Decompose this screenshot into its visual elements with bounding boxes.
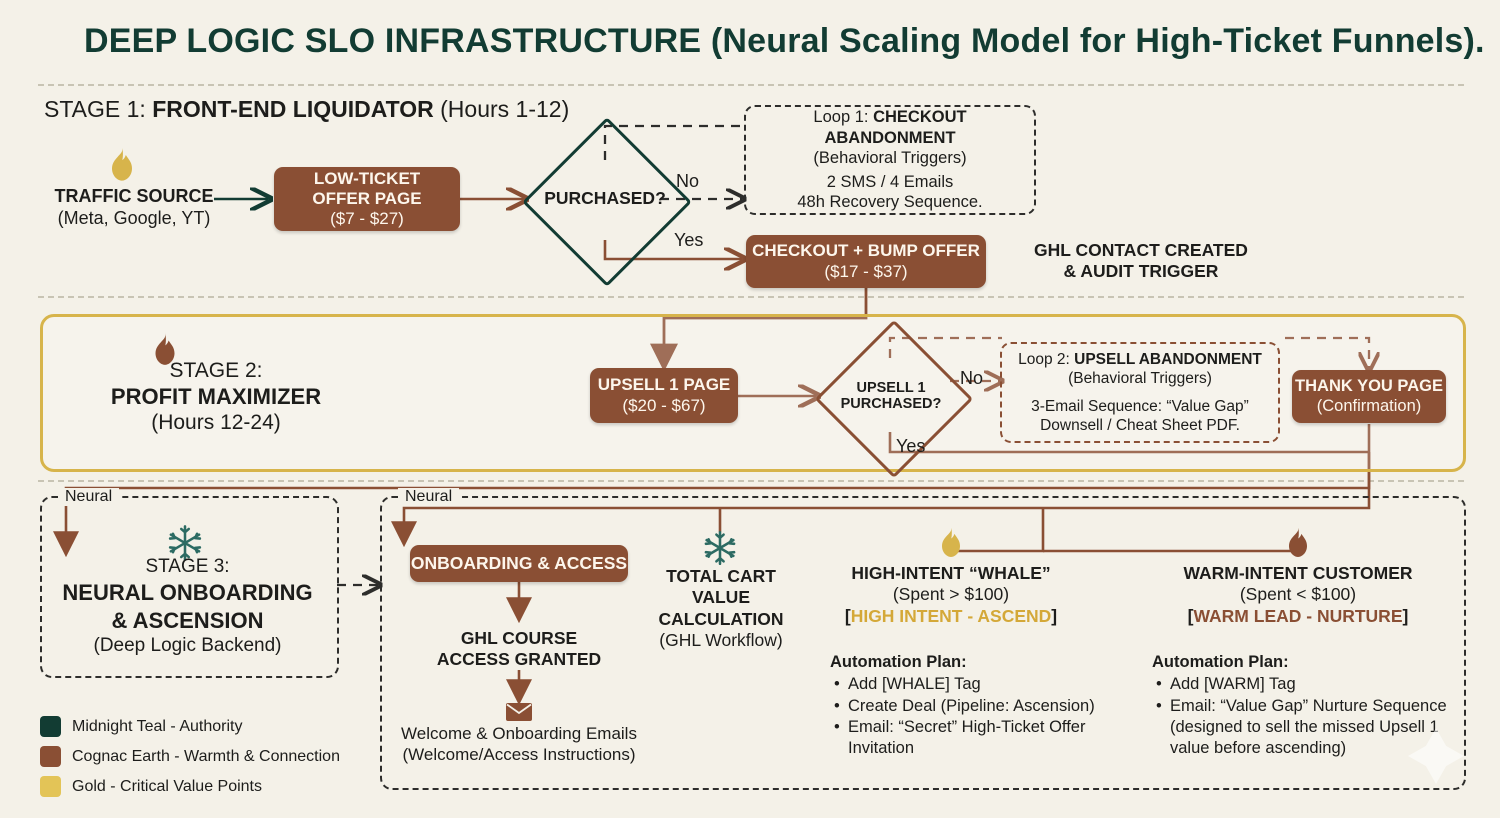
whale-segment-node: HIGH-INTENT “WHALE” (Spent > $100) [HIGH…: [826, 563, 1076, 627]
checkout-bump-offer-box[interactable]: CHECKOUT + BUMP OFFER ($17 - $37): [746, 235, 986, 288]
warm-tag-text: WARM LEAD - NURTURE: [1193, 606, 1402, 626]
loop2-title-bold: UPSELL ABANDONMENT: [1074, 351, 1262, 368]
checkout-bump-line1: CHECKOUT + BUMP OFFER: [752, 241, 980, 261]
upsell1-decision-line2: PURCHASED?: [841, 396, 942, 412]
warm-plan-head: Automation Plan:: [1152, 652, 1454, 673]
label-no-stage1: No: [676, 171, 699, 192]
legend-label: Midnight Teal - Authority: [72, 719, 242, 735]
stage1-header: STAGE 1: FRONT-END LIQUIDATOR (Hours 1-1…: [44, 96, 569, 123]
whale-plan-head: Automation Plan:: [830, 652, 1108, 673]
legend-swatch-teal: [40, 716, 61, 737]
stage3-title-line2: NEURAL ONBOARDING: [44, 579, 331, 607]
traffic-source-subtitle: (Meta, Google, YT): [54, 208, 214, 230]
traffic-source-title: TRAFFIC SOURCE: [54, 186, 214, 208]
legend-item: Cognac Earth - Warmth & Connection: [40, 746, 340, 767]
low-ticket-price: ($7 - $27): [330, 209, 404, 229]
upsell1-line1: UPSELL 1 PAGE: [598, 375, 731, 395]
onboarding-access-box[interactable]: ONBOARDING & ACCESS: [410, 545, 628, 582]
upsell1-purchased-decision[interactable]: UPSELL 1 PURCHASED?: [818, 343, 964, 449]
traffic-source-node: TRAFFIC SOURCE (Meta, Google, YT): [54, 186, 214, 230]
thank-you-line1: THANK YOU PAGE: [1295, 377, 1443, 396]
flame-icon: [1279, 524, 1317, 560]
purchased-decision-label: PURCHASED?: [524, 142, 686, 256]
whale-condition: (Spent > $100): [826, 584, 1076, 605]
stage2-title: STAGE 2: PROFIT MAXIMIZER (Hours 12-24): [66, 358, 366, 436]
low-ticket-line2: OFFER PAGE: [312, 189, 421, 209]
flame-icon: [932, 524, 970, 560]
stage3-title-line3: & ASCENSION: [44, 607, 331, 635]
envelope-icon: [505, 702, 533, 722]
ghl-note-line2: & AUDIT TRIGGER: [1000, 261, 1282, 282]
neural-tag-left: Neural: [58, 488, 119, 506]
stage1-header-suffix: (Hours 1-12): [434, 96, 569, 122]
ghl-course-line2: ACCESS GRANTED: [419, 649, 619, 670]
thank-you-line2: (Confirmation): [1317, 397, 1422, 416]
warm-condition: (Spent < $100): [1148, 584, 1448, 605]
loop1-line2: 48h Recovery Sequence.: [797, 192, 982, 213]
stage2-title-line2: PROFIT MAXIMIZER: [111, 384, 321, 409]
warm-tag: [WARM LEAD - NURTURE]: [1148, 606, 1448, 627]
legend-swatch-gold: [40, 776, 61, 797]
legend-item: Midnight Teal - Authority: [40, 716, 340, 737]
whale-tag-text: HIGH INTENT - ASCEND: [851, 606, 1052, 626]
legend-label: Cognac Earth - Warmth & Connection: [72, 749, 340, 765]
checkout-bump-price: ($17 - $37): [824, 262, 907, 282]
stage1-header-prefix: STAGE 1:: [44, 96, 152, 122]
loop2-upsell-abandonment-box: Loop 2: UPSELL ABANDONMENT (Behavioral T…: [1000, 342, 1280, 443]
whale-tag-close: ]: [1051, 606, 1057, 626]
whale-tag: [HIGH INTENT - ASCEND]: [826, 606, 1076, 627]
whale-plan-item: Add [WHALE] Tag: [846, 674, 1108, 695]
welcome-emails-line1: Welcome & Onboarding Emails: [399, 724, 639, 745]
cart-value-line2: VALUE CALCULATION: [638, 587, 804, 630]
loop2-subtitle: (Behavioral Triggers): [1068, 369, 1212, 388]
loop2-line1: 3-Email Sequence: “Value Gap”: [1031, 397, 1249, 416]
loop1-line1: 2 SMS / 4 Emails: [827, 172, 954, 193]
low-ticket-offer-page-box[interactable]: LOW-TICKET OFFER PAGE ($7 - $27): [274, 167, 460, 231]
divider-top: [38, 84, 1464, 86]
stage3-title-line4: (Deep Logic Backend): [44, 634, 331, 658]
warm-automation-plan: Automation Plan: Add [WARM] Tag Email: “…: [1152, 652, 1454, 759]
ghl-course-access-node: GHL COURSE ACCESS GRANTED: [419, 628, 619, 671]
label-yes-stage2: Yes: [896, 436, 925, 457]
stage3-title-line1: STAGE 3:: [44, 555, 331, 579]
upsell1-page-box[interactable]: UPSELL 1 PAGE ($20 - $67): [590, 368, 738, 423]
legend-swatch-cognac: [40, 746, 61, 767]
whale-automation-plan: Automation Plan: Add [WHALE] Tag Create …: [830, 652, 1108, 759]
warm-plan-item: Add [WARM] Tag: [1168, 674, 1454, 695]
ghl-contact-note: GHL CONTACT CREATED & AUDIT TRIGGER: [1000, 240, 1282, 283]
cart-value-line1: TOTAL CART: [638, 566, 804, 587]
stage2-title-line1: STAGE 2:: [66, 358, 366, 384]
loop2-title: Loop 2: UPSELL ABANDONMENT: [1018, 350, 1262, 369]
whale-title: HIGH-INTENT “WHALE”: [826, 563, 1076, 584]
stage1-header-bold: FRONT-END LIQUIDATOR: [152, 96, 434, 122]
warm-tag-close: ]: [1403, 606, 1409, 626]
flame-icon: [100, 144, 144, 184]
loop1-checkout-abandonment-box: Loop 1: CHECKOUT ABANDONMENT (Behavioral…: [744, 105, 1036, 215]
label-yes-stage1: Yes: [674, 230, 703, 251]
ghl-note-line1: GHL CONTACT CREATED: [1000, 240, 1282, 261]
legend-item: Gold - Critical Value Points: [40, 776, 340, 797]
snowflake-icon: [702, 530, 738, 566]
total-cart-value-node: TOTAL CART VALUE CALCULATION (GHL Workfl…: [638, 566, 804, 651]
stage2-title-line3: (Hours 12-24): [66, 410, 366, 436]
thank-you-page-box[interactable]: THANK YOU PAGE (Confirmation): [1292, 370, 1446, 423]
divider-stage2-stage3: [38, 480, 1464, 482]
loop2-line2: Downsell / Cheat Sheet PDF.: [1040, 416, 1240, 435]
warm-segment-node: WARM-INTENT CUSTOMER (Spent < $100) [WAR…: [1148, 563, 1448, 627]
loop1-title: Loop 1: CHECKOUT ABANDONMENT: [746, 107, 1034, 148]
welcome-emails-node: Welcome & Onboarding Emails (Welcome/Acc…: [399, 724, 639, 765]
warm-plan-item: Email: “Value Gap” Nurture Sequence (des…: [1168, 696, 1454, 760]
label-no-stage2: No: [960, 368, 983, 389]
loop2-title-prefix: Loop 2:: [1018, 351, 1074, 368]
infographic-canvas: DEEP LOGIC SLO INFRASTRUCTURE (Neural Sc…: [0, 0, 1500, 818]
whale-plan-item: Email: “Secret” High-Ticket Offer Invita…: [846, 717, 1108, 760]
divider-stage1-stage2: [38, 296, 1464, 298]
cart-value-line3: (GHL Workflow): [638, 630, 804, 651]
onboarding-access-label: ONBOARDING & ACCESS: [411, 553, 627, 574]
loop1-title-prefix: Loop 1:: [813, 108, 873, 126]
upsell1-decision-line1: UPSELL 1: [856, 380, 925, 396]
legend: Midnight Teal - Authority Cognac Earth -…: [40, 716, 340, 806]
legend-label: Gold - Critical Value Points: [72, 779, 262, 795]
upsell1-decision-label: UPSELL 1 PURCHASED?: [818, 343, 964, 449]
stage3-title: STAGE 3: NEURAL ONBOARDING & ASCENSION (…: [44, 555, 331, 658]
ghl-course-line1: GHL COURSE: [419, 628, 619, 649]
upsell1-price: ($20 - $67): [622, 396, 705, 416]
whale-plan-item: Create Deal (Pipeline: Ascension): [846, 696, 1108, 717]
neural-tag-right: Neural: [398, 488, 459, 506]
welcome-emails-line2: (Welcome/Access Instructions): [399, 745, 639, 766]
loop1-subtitle: (Behavioral Triggers): [813, 148, 966, 169]
low-ticket-line1: LOW-TICKET: [314, 169, 420, 189]
page-title: DEEP LOGIC SLO INFRASTRUCTURE (Neural Sc…: [84, 22, 1444, 61]
purchased-decision[interactable]: PURCHASED?: [524, 142, 686, 256]
warm-title: WARM-INTENT CUSTOMER: [1148, 563, 1448, 584]
